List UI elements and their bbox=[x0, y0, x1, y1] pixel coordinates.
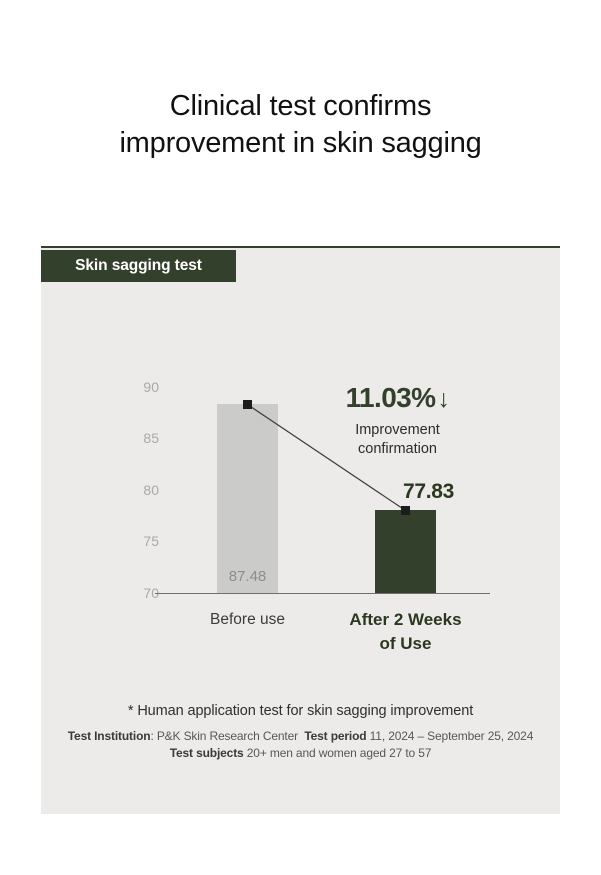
footnote-subjects-label: Test subjects bbox=[170, 746, 244, 760]
x-axis-label-after-line-1: After 2 Weeks bbox=[335, 608, 476, 632]
footnote-period-value: 11, 2024 – September 25, 2024 bbox=[370, 729, 534, 743]
y-axis-tick-75: 75 bbox=[119, 533, 159, 549]
footnote-line-2: Test subjects 20+ men and women aged 27 … bbox=[41, 745, 560, 762]
y-axis-tick-70: 70 bbox=[119, 585, 159, 601]
y-axis-tick-80: 80 bbox=[119, 482, 159, 498]
x-axis-label-after-line-2: of Use bbox=[335, 632, 476, 656]
footnote-block: * Human application test for skin saggin… bbox=[41, 703, 560, 762]
improvement-caption-line-2: confirmation bbox=[290, 440, 505, 459]
x-axis-label-after: After 2 Weeks of Use bbox=[335, 608, 476, 656]
x-axis-baseline bbox=[155, 593, 490, 594]
footnote-institution-value: : P&K Skin Research Center bbox=[150, 729, 298, 743]
footnote-title: * Human application test for skin saggin… bbox=[41, 703, 560, 719]
footnote-institution-label: Test Institution bbox=[68, 729, 151, 743]
bar-after-two-weeks bbox=[375, 510, 436, 593]
page-title-line-2: improvement in skin sagging bbox=[0, 125, 601, 162]
data-point-marker-after bbox=[401, 506, 410, 515]
data-point-marker-before bbox=[243, 400, 252, 409]
y-axis-tick-85: 85 bbox=[119, 430, 159, 446]
bar-before-use bbox=[217, 404, 278, 593]
footnote-subjects-value: 20+ men and women aged 27 to 57 bbox=[247, 746, 432, 760]
improvement-caption: Improvement confirmation bbox=[290, 421, 505, 459]
footnote-details: Test Institution: P&K Skin Research Cent… bbox=[41, 728, 560, 762]
improvement-percent-value: 11.03% bbox=[346, 382, 436, 413]
footnote-period-label: Test period bbox=[304, 729, 366, 743]
page-title-line-1: Clinical test confirms bbox=[0, 88, 601, 125]
improvement-percent: 11.03%↓ bbox=[290, 382, 505, 415]
improvement-caption-line-1: Improvement bbox=[290, 421, 505, 440]
footnote-line-1: Test Institution: P&K Skin Research Cent… bbox=[41, 728, 560, 745]
x-axis-label-before: Before use bbox=[187, 608, 308, 632]
arrow-down-icon: ↓ bbox=[437, 385, 449, 413]
bar-value-after: 77.83 bbox=[356, 480, 501, 504]
bar-value-before: 87.48 bbox=[217, 568, 278, 585]
chart-panel: Skin sagging test 90 85 80 75 70 87.48 7… bbox=[41, 246, 560, 814]
y-axis-tick-90: 90 bbox=[119, 379, 159, 395]
improvement-callout: 11.03%↓ Improvement confirmation bbox=[290, 382, 505, 459]
page-title: Clinical test confirms improvement in sk… bbox=[0, 88, 601, 162]
